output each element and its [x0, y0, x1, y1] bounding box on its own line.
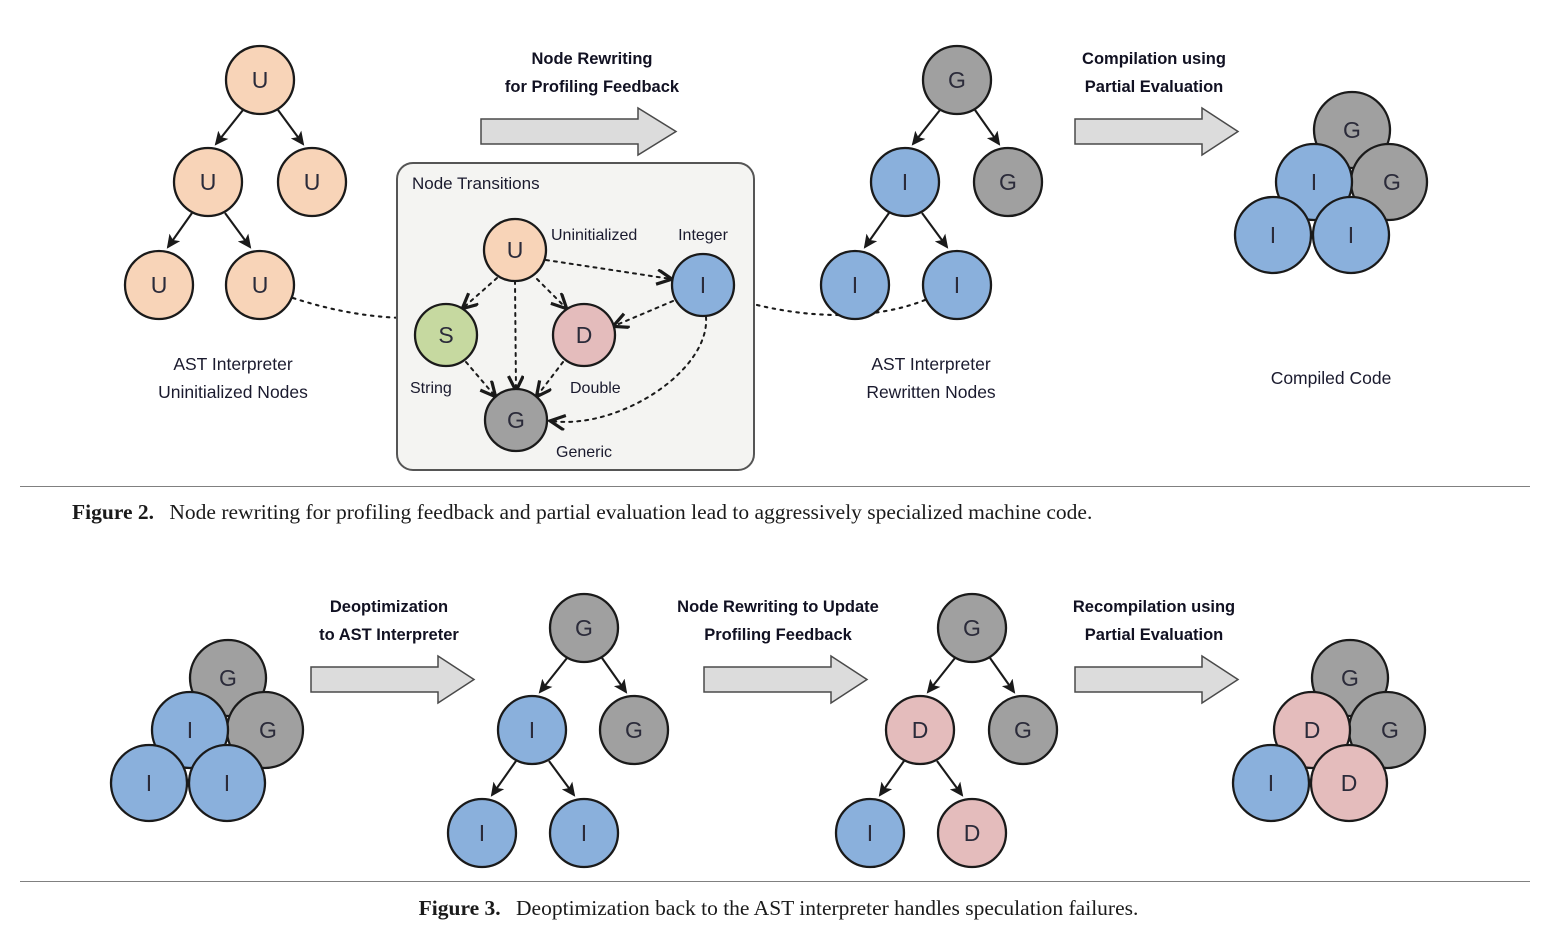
node-label: I — [902, 169, 908, 195]
cluster-node: I — [111, 745, 187, 821]
node-label: G — [575, 615, 593, 641]
node-label: G — [1341, 665, 1359, 691]
node-label: G — [948, 67, 966, 93]
node-label: U — [304, 169, 321, 195]
node-label: U — [507, 237, 524, 263]
node-label: I — [852, 272, 858, 298]
figure-2-caption: Figure 2. Node rewriting for profiling f… — [0, 500, 1557, 525]
node-label: I — [187, 717, 193, 743]
arrow-label-line1: Deoptimization — [330, 598, 448, 616]
cluster-node: G — [227, 692, 303, 768]
fig2-arrow-node-rewriting: Node Rewriting for Profiling Feedback — [481, 50, 680, 155]
stage-caption-line1: AST Interpreter — [173, 354, 292, 374]
tree-node: G — [938, 594, 1006, 662]
cluster-node: D — [1274, 692, 1350, 768]
tree-node: I — [550, 799, 618, 867]
node-label: D — [1341, 770, 1358, 796]
node-label: G — [625, 717, 643, 743]
cluster-node: I — [189, 745, 265, 821]
node-label: I — [224, 770, 230, 796]
cluster-node: I — [1313, 197, 1389, 273]
transition-node: G — [485, 389, 547, 451]
figure-3-caption: Figure 3. Deoptimization back to the AST… — [0, 896, 1557, 921]
block-arrow-icon — [481, 108, 676, 155]
figure-3-caption-label: Figure 3. — [419, 896, 501, 920]
node-label: I — [1348, 222, 1354, 248]
stage-caption: Compiled Code — [1271, 368, 1392, 388]
node-label: I — [529, 717, 535, 743]
node-label: G — [999, 169, 1017, 195]
figure-2-diagram: U U U U U AST Interpreter Uninitialized … — [0, 0, 1557, 480]
cluster-node: G — [1349, 692, 1425, 768]
transition-caption-double: Double — [570, 380, 621, 397]
node-label: I — [1268, 770, 1274, 796]
node-label: I — [700, 272, 706, 298]
transition-caption-generic: Generic — [556, 444, 612, 461]
fig3-stage3-ast-tree: G D G I D — [836, 594, 1057, 867]
block-arrow-icon — [1075, 656, 1238, 703]
tree-node: I — [871, 148, 939, 216]
fig3-arrow-node-rewriting-update: Node Rewriting to Update Profiling Feedb… — [677, 598, 879, 703]
arrow-label-line1: Node Rewriting — [531, 50, 652, 68]
fig2-stage3-compiled-cluster: G G I I I Compiled Code — [1235, 92, 1427, 388]
tree-node: G — [550, 594, 618, 662]
arrow-label-line2: for Profiling Feedback — [505, 78, 680, 96]
arrow-label-line1: Recompilation using — [1073, 598, 1235, 616]
node-label: I — [479, 820, 485, 846]
figure-3-caption-text: Deoptimization back to the AST interpret… — [516, 896, 1138, 920]
tree-node: G — [974, 148, 1042, 216]
fig3-arrow-recompilation: Recompilation using Partial Evaluation — [1073, 598, 1238, 703]
node-label: G — [963, 615, 981, 641]
tree-node: D — [938, 799, 1006, 867]
arrow-label-line2: Profiling Feedback — [704, 626, 852, 644]
block-arrow-icon — [1075, 108, 1238, 155]
transition-caption-uninitialized: Uninitialized — [551, 227, 637, 244]
panel-title: Node Transitions — [412, 174, 540, 193]
figure-2-caption-rule — [20, 486, 1530, 487]
tree-node: U — [125, 251, 193, 319]
arrow-label-line2: to AST Interpreter — [319, 626, 459, 644]
tree-edges — [492, 658, 626, 795]
block-arrow-icon — [704, 656, 867, 703]
tree-node: U — [174, 148, 242, 216]
block-arrow-icon — [311, 656, 474, 703]
tree-node: U — [226, 251, 294, 319]
node-label: G — [1383, 169, 1401, 195]
tree-node: I — [923, 251, 991, 319]
cluster-node: I — [1235, 197, 1311, 273]
node-label: I — [146, 770, 152, 796]
tree-node: U — [278, 148, 346, 216]
tree-node: G — [600, 696, 668, 764]
node-label: D — [964, 820, 981, 846]
tree-node: I — [836, 799, 904, 867]
tree-node: D — [886, 696, 954, 764]
node-label: G — [259, 717, 277, 743]
stage-caption-line2: Uninitialized Nodes — [158, 382, 308, 402]
node-label: I — [1311, 169, 1317, 195]
node-label: I — [1270, 222, 1276, 248]
cluster-node: I — [1233, 745, 1309, 821]
fig3-arrow-deoptimization: Deoptimization to AST Interpreter — [311, 598, 474, 703]
fig2-stage2-rewritten-tree: G I G I I AST Interpreter Rewritten Node… — [821, 46, 1042, 402]
fig3-stage1-compiled-cluster: G G I I I — [111, 640, 303, 821]
figure-2-svg: U U U U U AST Interpreter Uninitialized … — [0, 0, 1557, 480]
tree-node: U — [226, 46, 294, 114]
arrow-label-line2: Partial Evaluation — [1085, 78, 1223, 96]
node-label: G — [1381, 717, 1399, 743]
cluster-node: G — [190, 640, 266, 716]
tree-node: G — [989, 696, 1057, 764]
tree-node: I — [821, 251, 889, 319]
node-label: I — [581, 820, 587, 846]
node-label: I — [867, 820, 873, 846]
stage-caption-line2: Rewritten Nodes — [866, 382, 996, 402]
node-label: U — [151, 272, 168, 298]
arrow-label-line1: Node Rewriting to Update — [677, 598, 879, 616]
node-label: D — [912, 717, 929, 743]
tree-edges — [880, 658, 1014, 795]
node-label: I — [954, 272, 960, 298]
cluster-node: G — [1312, 640, 1388, 716]
fig2-stage1-ast-tree: U U U U U AST Interpreter Uninitialized … — [125, 46, 346, 402]
transition-node: I — [672, 254, 734, 316]
dotted-link-u-to-transitions — [293, 298, 410, 318]
figure-2-caption-label: Figure 2. — [72, 500, 154, 524]
fig3-stage4-recompiled-cluster: G G D I D — [1233, 640, 1425, 821]
transition-node: S — [415, 304, 477, 366]
fig2-node-transitions-panel: Node Transitions U I S D G Uninitialized… — [397, 163, 754, 470]
tree-node: G — [923, 46, 991, 114]
cluster-node: I — [152, 692, 228, 768]
transition-node: U — [484, 219, 546, 281]
node-label: D — [1304, 717, 1321, 743]
cluster-node: D — [1311, 745, 1387, 821]
transition-caption-string: String — [410, 380, 452, 397]
tree-node: I — [448, 799, 516, 867]
figure-3-caption-rule — [20, 881, 1530, 882]
node-label: G — [507, 407, 525, 433]
fig2-arrow-compilation: Compilation using Partial Evaluation — [1075, 50, 1238, 155]
arrow-label-line2: Partial Evaluation — [1085, 626, 1223, 644]
node-label: U — [200, 169, 217, 195]
node-label: G — [1343, 117, 1361, 143]
stage-caption-line1: AST Interpreter — [871, 354, 990, 374]
fig3-stage2-ast-tree: G I G I I — [448, 594, 668, 867]
node-label: S — [438, 322, 453, 348]
transition-node: D — [553, 304, 615, 366]
node-label: G — [219, 665, 237, 691]
node-label: G — [1014, 717, 1032, 743]
arrow-label-line1: Compilation using — [1082, 50, 1226, 68]
transition-caption-integer: Integer — [678, 227, 728, 244]
node-label: U — [252, 67, 269, 93]
tree-node: I — [498, 696, 566, 764]
figure-2-caption-text: Node rewriting for profiling feedback an… — [169, 500, 1092, 524]
node-label: D — [576, 322, 593, 348]
node-label: U — [252, 272, 269, 298]
